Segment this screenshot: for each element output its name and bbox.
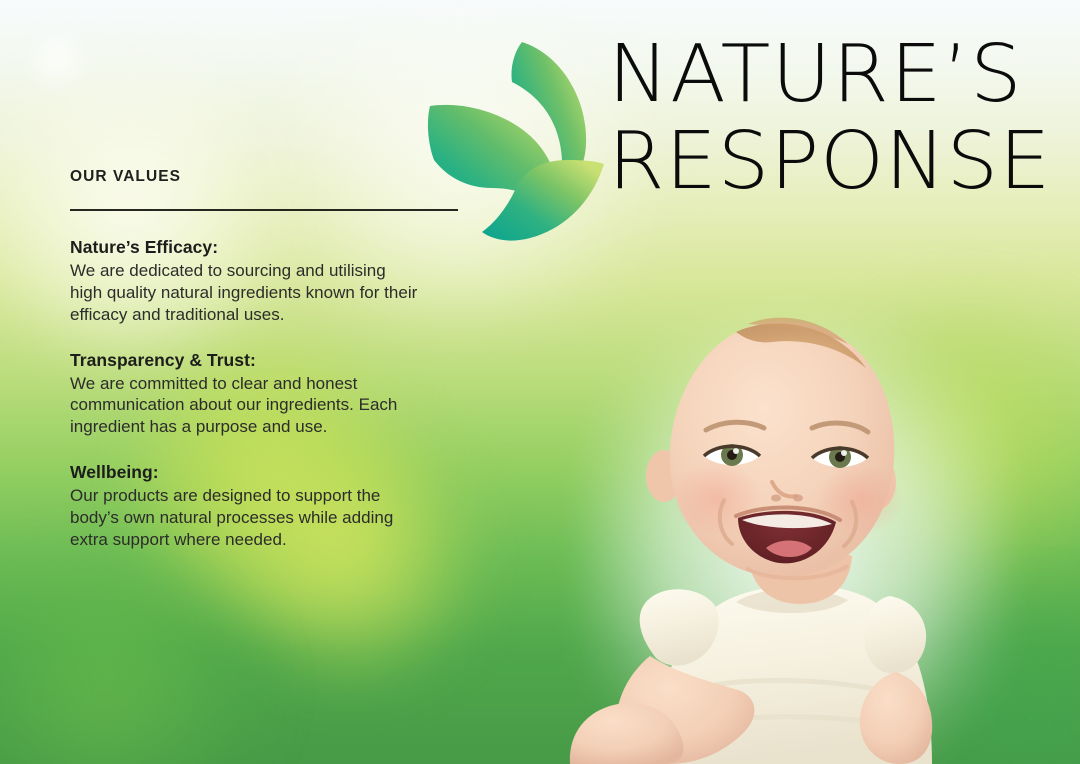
brand-wordmark: NATURE’S RESPONSE <box>608 36 1078 199</box>
wordmark-line-1: NATURE’S <box>608 36 1080 113</box>
value-body: Our products are designed to support the… <box>70 485 422 551</box>
value-title: Nature’s Efficacy: <box>70 237 470 259</box>
brand-logo: NATURE’S RESPONSE <box>424 34 1076 246</box>
value-title: Transparency & Trust: <box>70 350 470 372</box>
value-title: Wellbeing: <box>70 462 470 484</box>
value-body: We are dedicated to sourcing and utilisi… <box>70 260 422 326</box>
values-column: OUR VALUES Nature’s Efficacy: We are ded… <box>70 168 470 551</box>
section-divider <box>70 209 458 211</box>
smiling-baby-photo <box>560 286 1030 764</box>
brand-values-slide: NATURE’S RESPONSE OUR VALUES Nature’s Ef… <box>0 0 1080 764</box>
baby-illustration <box>560 286 1030 764</box>
value-block-efficacy: Nature’s Efficacy: We are dedicated to s… <box>70 237 470 326</box>
value-body: We are committed to clear and honest com… <box>70 373 422 439</box>
section-eyebrow: OUR VALUES <box>70 168 470 185</box>
value-block-transparency: Transparency & Trust: We are committed t… <box>70 350 470 439</box>
wordmark-line-2: RESPONSE <box>608 123 1080 200</box>
value-block-wellbeing: Wellbeing: Our products are designed to … <box>70 462 470 551</box>
baby-head <box>646 318 904 579</box>
